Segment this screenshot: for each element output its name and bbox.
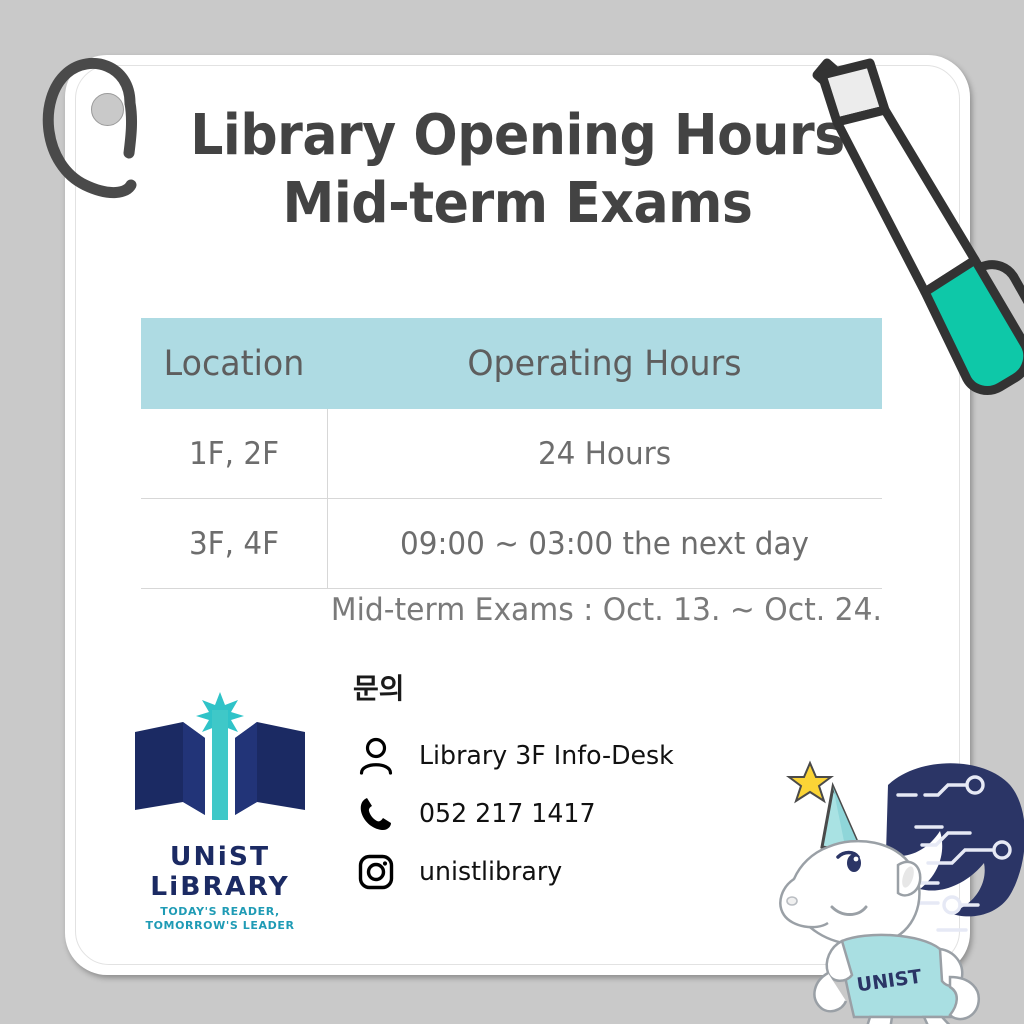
unist-library-logo: UNiST LiBRARY TODAY'S READER, TOMORROW'S… <box>100 690 340 920</box>
pen-icon <box>775 15 1024 425</box>
contact-row-phone[interactable]: 052 217 1417 <box>353 785 773 843</box>
unicorn-mascot: UNIST <box>770 755 1024 1024</box>
table-header-row: Location Operating Hours <box>141 318 882 409</box>
table-header-location: Location <box>146 318 323 409</box>
table-row: 1F, 2F 24 Hours <box>141 409 882 499</box>
contact-row-instagram[interactable]: unistlibrary <box>353 843 773 901</box>
cell-hours: 09:00 ~ 03:00 the next day <box>341 499 868 588</box>
contact-instagram-text: unistlibrary <box>419 857 562 887</box>
open-book-logo-icon <box>125 690 315 840</box>
phone-icon <box>353 796 399 832</box>
exam-period-note: Mid-term Exams : Oct. 13. ~ Oct. 24. <box>171 592 882 628</box>
cell-location: 1F, 2F <box>146 409 323 498</box>
table-row: 3F, 4F 09:00 ~ 03:00 the next day <box>141 499 882 589</box>
logo-name: UNiST LiBRARY <box>98 842 343 902</box>
contact-phone-text: 052 217 1417 <box>419 799 595 829</box>
logo-tagline: TODAY'S READER, TOMORROW'S LEADER <box>100 905 340 933</box>
contact-info-desk-text: Library 3F Info-Desk <box>419 741 674 771</box>
cell-location: 3F, 4F <box>146 499 323 588</box>
person-icon <box>353 737 399 775</box>
opening-hours-table: Location Operating Hours 1F, 2F 24 Hours… <box>141 318 882 589</box>
logo-tagline-line-2: TOMORROW'S LEADER <box>100 919 340 933</box>
table-column-divider <box>327 409 328 589</box>
instagram-icon <box>353 854 399 890</box>
contact-section: 문의 Library 3F Info-Desk 052 217 1417 <box>353 667 773 901</box>
logo-tagline-line-1: TODAY'S READER, <box>100 905 340 919</box>
contact-row-info-desk: Library 3F Info-Desk <box>353 727 773 785</box>
contact-heading: 문의 <box>353 667 773 707</box>
